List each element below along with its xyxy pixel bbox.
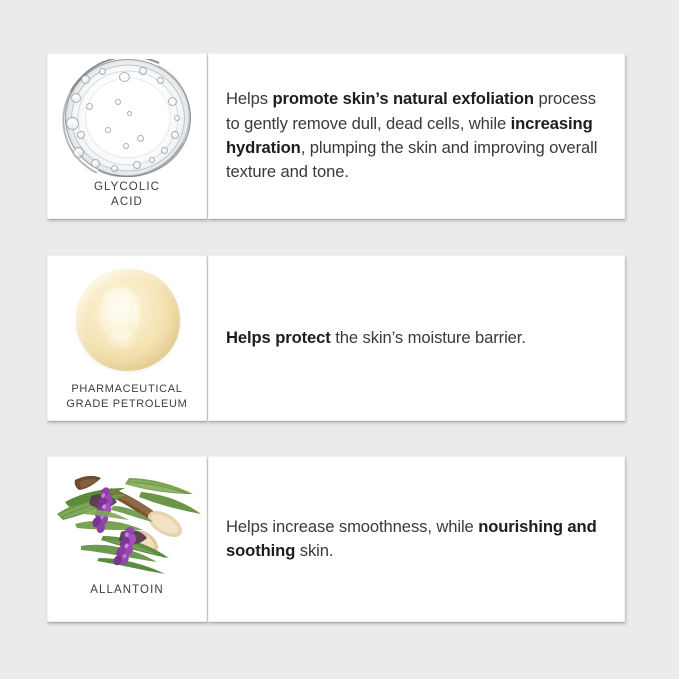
ingredient-description-glycolic-acid: Helps promote skin’s natural exfoliation… — [209, 87, 624, 185]
ingredient-description-allantoin: Helps increase smoothness, while nourish… — [209, 515, 624, 564]
ingredient-image-card-pharmaceutical-grade-petroleum[interactable]: PHARMACEUTICAL GRADE PETROLEUM — [47, 255, 207, 421]
ingredient-card-row: GLYCOLIC ACID Helps promote skin’s natur… — [47, 53, 625, 221]
ingredient-image-card-allantoin[interactable]: ALLANTOIN — [47, 456, 207, 622]
ingredient-card-row: ALLANTOIN Helps increase smoothness, whi… — [47, 456, 625, 624]
ingredient-image-card-glycolic-acid[interactable]: GLYCOLIC ACID — [47, 53, 207, 219]
glycolic-acid-gel-photo — [53, 59, 203, 177]
ingredient-caption-pharmaceutical-grade-petroleum: PHARMACEUTICAL GRADE PETROLEUM — [48, 382, 206, 411]
ingredient-description-pharmaceutical-grade-petroleum: Helps protect the skin’s moisture barrie… — [209, 326, 542, 350]
ingredient-card-row: PHARMACEUTICAL GRADE PETROLEUM Helps pro… — [47, 255, 625, 423]
ingredient-benefits-board: GLYCOLIC ACID Helps promote skin’s natur… — [0, 0, 679, 679]
ingredient-caption-glycolic-acid: GLYCOLIC ACID — [48, 180, 206, 210]
ingredient-text-card-pharmaceutical-grade-petroleum[interactable]: Helps protect the skin’s moisture barrie… — [208, 255, 625, 421]
petroleum-jelly-blob-photo — [53, 261, 203, 379]
comfrey-plant-photo — [53, 462, 203, 580]
ingredient-text-card-glycolic-acid[interactable]: Helps promote skin’s natural exfoliation… — [208, 53, 625, 219]
ingredient-text-card-allantoin[interactable]: Helps increase smoothness, while nourish… — [208, 456, 625, 622]
ingredient-caption-allantoin: ALLANTOIN — [48, 583, 206, 598]
